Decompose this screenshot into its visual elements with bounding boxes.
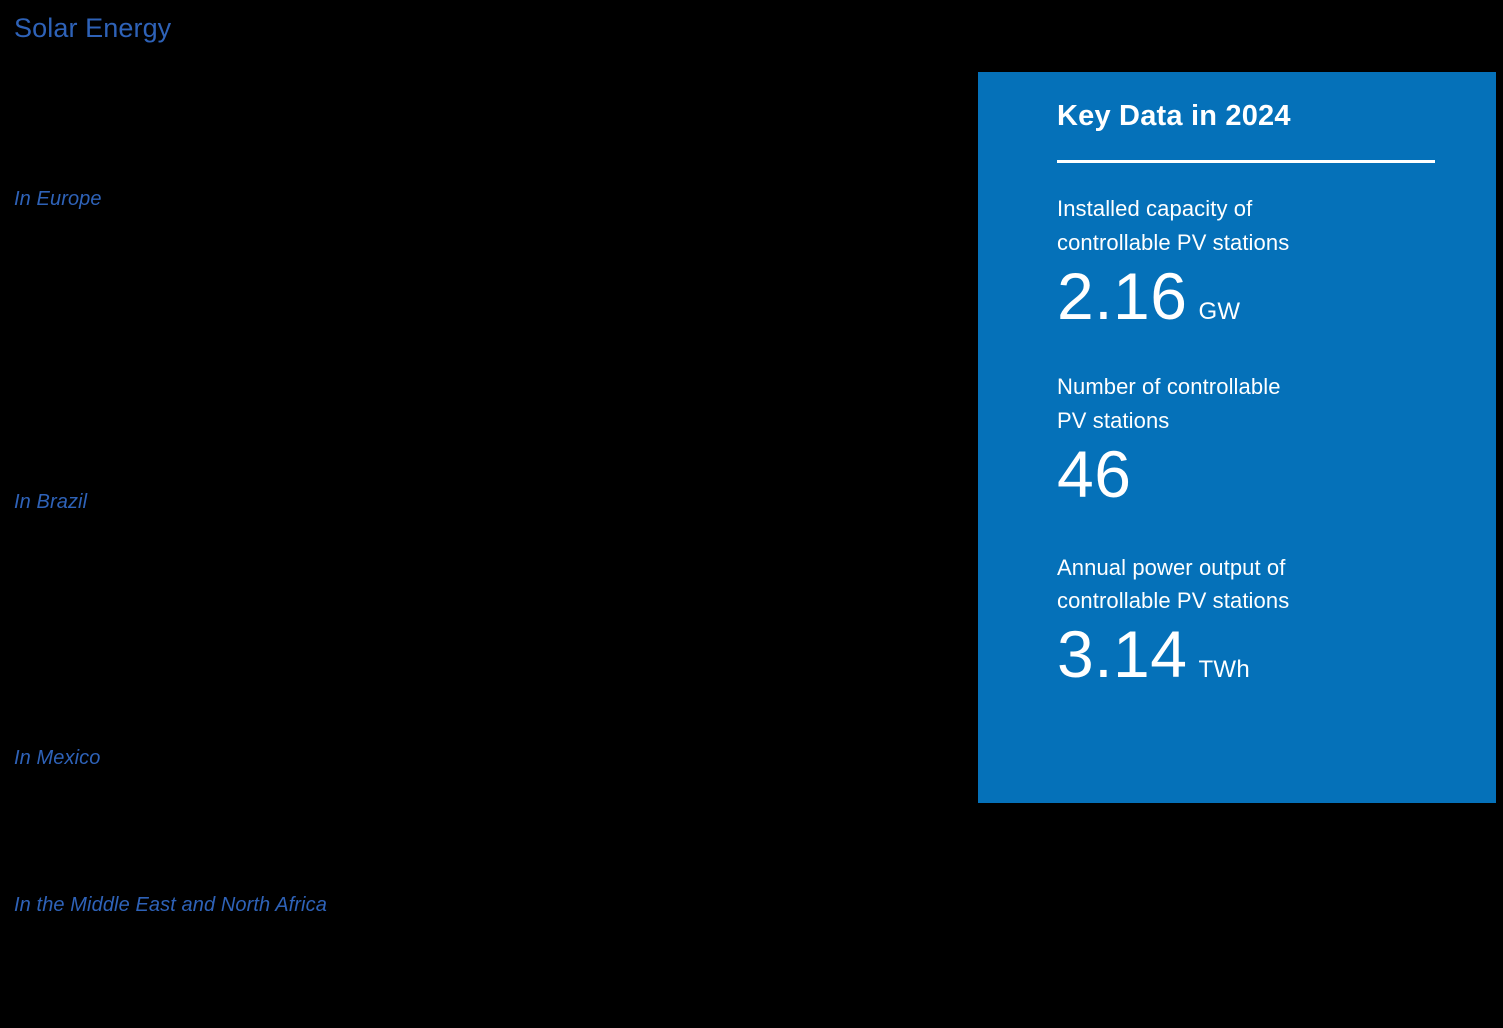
key-data-heading: Key Data in 2024 — [1057, 98, 1435, 134]
section-label-brazil: In Brazil — [14, 491, 87, 514]
metric-installed-capacity: Installed capacity of controllable PV st… — [1057, 192, 1435, 332]
metric-value: 46 — [1057, 439, 1131, 510]
page-root: Solar Energy In Europe In Brazil In Mexi… — [0, 0, 1503, 1028]
metric-value: 3.14 — [1057, 619, 1187, 690]
metric-label-line1: Number of controllable — [1057, 370, 1435, 403]
metric-unit: GW — [1198, 298, 1240, 326]
section-label-europe: In Europe — [14, 188, 102, 211]
metric-label-line2: controllable PV stations — [1057, 584, 1435, 617]
key-data-panel: Key Data in 2024 Installed capacity of c… — [978, 72, 1496, 803]
metric-value-row: 46 — [1057, 439, 1435, 510]
metric-label-line1: Annual power output of — [1057, 551, 1435, 584]
section-label-middle-east-north-africa: In the Middle East and North Africa — [14, 894, 327, 917]
metric-unit: TWh — [1198, 656, 1250, 684]
metric-value-row: 3.14 TWh — [1057, 619, 1435, 690]
section-label-mexico: In Mexico — [14, 747, 101, 770]
metric-value-row: 2.16 GW — [1057, 261, 1435, 332]
metric-number-of-stations: Number of controllable PV stations 46 — [1057, 370, 1435, 510]
metric-label-line1: Installed capacity of — [1057, 192, 1435, 225]
metric-annual-power-output: Annual power output of controllable PV s… — [1057, 551, 1435, 691]
metric-value: 2.16 — [1057, 261, 1187, 332]
key-data-divider — [1057, 160, 1435, 163]
page-title: Solar Energy — [14, 13, 171, 44]
metric-label-line2: controllable PV stations — [1057, 226, 1435, 259]
metric-label-line2: PV stations — [1057, 404, 1435, 437]
